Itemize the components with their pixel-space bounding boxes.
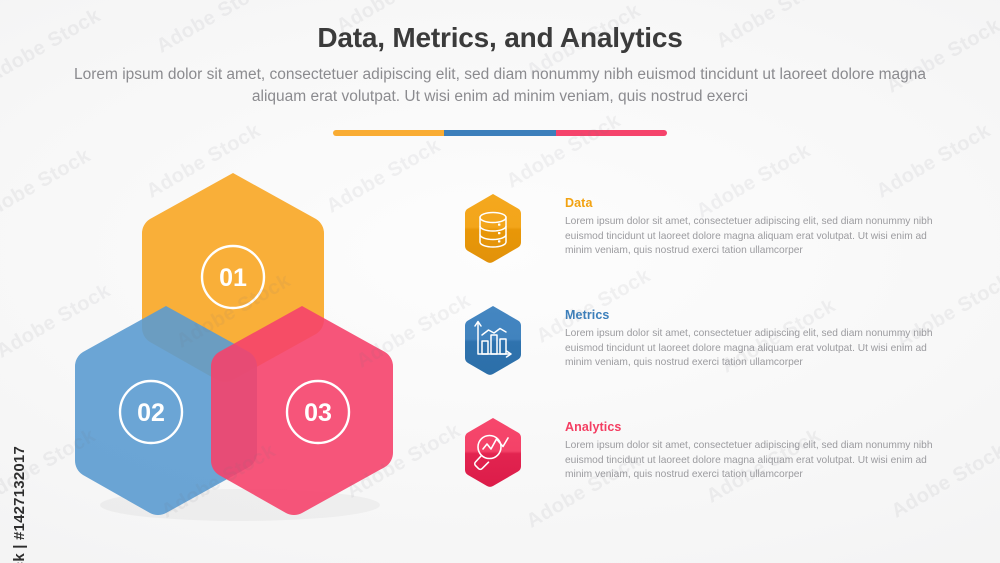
list-item[interactable]: Data Lorem ipsum dolor sit amet, consect… xyxy=(462,186,962,298)
infographic-canvas: Data, Metrics, and Analytics Lorem ipsum… xyxy=(0,0,1000,563)
hexagon-03-number: 03 xyxy=(304,399,332,427)
list-item-body: Data Lorem ipsum dolor sit amet, consect… xyxy=(565,196,947,259)
hexagon-01-number: 01 xyxy=(219,264,247,292)
hexagon-cluster: 01 02 03 xyxy=(55,160,425,525)
list-item-title: Data xyxy=(565,196,947,210)
list-item-description: Lorem ipsum dolor sit amet, consectetuer… xyxy=(565,327,947,371)
database-icon xyxy=(462,192,524,264)
bar-chart-icon xyxy=(462,304,524,376)
header: Data, Metrics, and Analytics Lorem ipsum… xyxy=(0,22,1000,108)
accent-segment-blue xyxy=(444,130,555,136)
list-item[interactable]: Analytics Lorem ipsum dolor sit amet, co… xyxy=(462,410,962,522)
list-item-body: Analytics Lorem ipsum dolor sit amet, co… xyxy=(565,420,947,483)
page-title: Data, Metrics, and Analytics xyxy=(0,22,1000,54)
accent-segment-pink xyxy=(556,130,667,136)
list-item-description: Lorem ipsum dolor sit amet, consectetuer… xyxy=(565,439,947,483)
stock-credit-label: Adobe Stock | #1427132017 xyxy=(2,135,36,555)
hexagon-02-number: 02 xyxy=(137,399,165,427)
list-item-body: Metrics Lorem ipsum dolor sit amet, cons… xyxy=(565,308,947,371)
magnifier-chart-icon xyxy=(462,416,524,488)
feature-list: Data Lorem ipsum dolor sit amet, consect… xyxy=(462,186,962,522)
accent-bar xyxy=(333,130,667,136)
list-item-title: Metrics xyxy=(565,308,947,322)
stock-credit-text: Adobe Stock | #1427132017 xyxy=(11,446,28,563)
list-item[interactable]: Metrics Lorem ipsum dolor sit amet, cons… xyxy=(462,298,962,410)
list-item-description: Lorem ipsum dolor sit amet, consectetuer… xyxy=(565,215,947,259)
list-item-title: Analytics xyxy=(565,420,947,434)
page-subtitle: Lorem ipsum dolor sit amet, consectetuer… xyxy=(60,64,940,108)
accent-segment-orange xyxy=(333,130,444,136)
